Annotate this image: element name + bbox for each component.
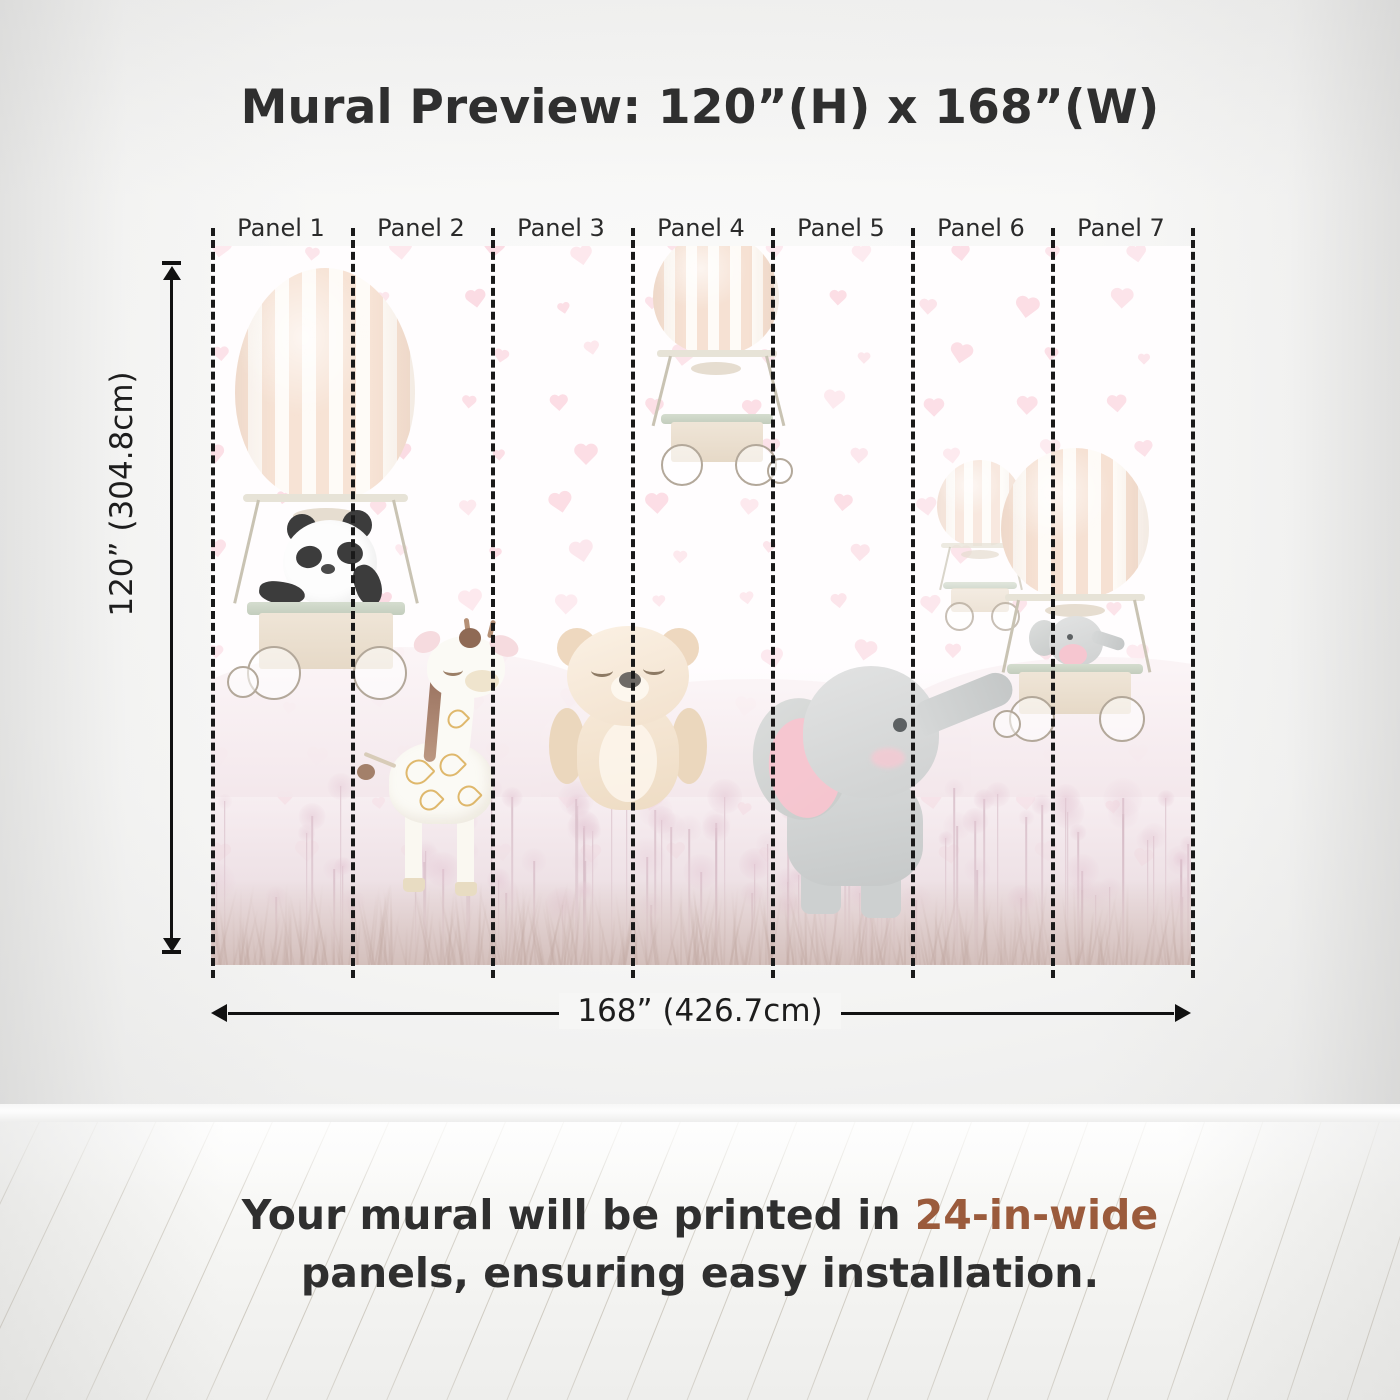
heart-icon [829, 593, 849, 611]
figure-giraffe [361, 614, 541, 914]
elephant-eye [893, 718, 907, 732]
bear-eye-right [643, 662, 665, 675]
footer-caption: Your mural will be printed in 24-in-wide… [0, 1186, 1400, 1302]
figure-baby-elephant-in-balloon [993, 448, 1173, 688]
panel-label-6: Panel 6 [911, 214, 1051, 242]
panel-label-4: Panel 4 [631, 214, 771, 242]
bear-nose [619, 672, 641, 688]
heart-icon [950, 246, 972, 264]
balloon-rope [1133, 600, 1151, 673]
heart-icon [848, 447, 868, 465]
heart-icon [849, 544, 871, 564]
heart-icon [918, 595, 943, 618]
grass-blade [677, 898, 688, 965]
grass-blade [557, 917, 559, 965]
grass-blade [356, 916, 361, 965]
elephant-blush [871, 748, 905, 768]
mural-edge-left [211, 228, 215, 978]
grass-blade [1126, 883, 1128, 965]
panel-divider-6 [1051, 228, 1055, 978]
giraffe-tuft [459, 628, 481, 648]
heart-icon [918, 299, 939, 318]
heart-icon [567, 538, 598, 567]
giraffe-tail-tuft [357, 764, 375, 780]
baseboard [0, 1104, 1400, 1122]
heart-icon [461, 395, 478, 411]
grass-blade [1130, 928, 1134, 965]
grass-band [211, 879, 1191, 965]
heart-icon [387, 246, 415, 264]
grass-blade [1112, 937, 1115, 965]
heart-icon [546, 490, 576, 518]
heart-icon [1124, 246, 1149, 266]
heart-icon [548, 394, 569, 413]
cart-wheel-small [227, 666, 259, 698]
cart-wheel-left [661, 444, 703, 486]
height-dimension-line [170, 276, 173, 948]
width-dimension-label: 168” (426.7cm) [0, 993, 1400, 1029]
mural-edge-right [1191, 228, 1195, 978]
giraffe-eye [443, 664, 463, 676]
panel-divider-2 [491, 228, 495, 978]
mural-preview-screenshot: Mural Preview: 120”(H) x 168”(W) Panel 1… [0, 0, 1400, 1400]
panel-label-7: Panel 7 [1051, 214, 1191, 242]
grass-blade [723, 889, 726, 965]
heart-icon [573, 444, 600, 468]
heart-icon [738, 590, 756, 606]
heart-icon [456, 587, 487, 615]
balloon-rope [233, 500, 260, 604]
balloon-rope [392, 500, 419, 604]
mural-artwork [211, 246, 1191, 965]
grass-blade [308, 939, 313, 965]
height-dimension-label: 120” (304.8cm) [104, 334, 140, 654]
heart-icon [582, 340, 602, 358]
heart-icon [1109, 288, 1135, 312]
grass-blade [564, 933, 566, 965]
heart-icon [738, 498, 760, 518]
heart-icon [303, 247, 321, 264]
heart-icon [464, 289, 490, 312]
balloon-burner [691, 362, 741, 375]
grass-blade [792, 932, 794, 965]
heart-icon [828, 290, 848, 308]
heart-icon [857, 352, 872, 365]
panel-divider-3 [631, 228, 635, 978]
page-title: Mural Preview: 120”(H) x 168”(W) [0, 80, 1400, 135]
balloon-bar [243, 494, 408, 502]
footer-line-1: Your mural will be printed in 24-in-wide [0, 1186, 1400, 1244]
heart-icon [568, 246, 596, 270]
balloon-envelope [1001, 448, 1149, 598]
panel-label-5: Panel 5 [771, 214, 911, 242]
grass-blade [583, 938, 585, 965]
heart-icon [832, 493, 855, 514]
height-tick-bottom [162, 950, 181, 954]
balloon-bar [1005, 594, 1145, 601]
balloon-envelope [235, 268, 415, 500]
heart-icon [643, 493, 670, 517]
grass-blade [305, 927, 308, 965]
footer-line-2: panels, ensuring easy installation. [0, 1244, 1400, 1302]
grass-blade [221, 926, 223, 965]
heart-icon [946, 341, 975, 368]
panel-label-3: Panel 3 [491, 214, 631, 242]
heart-icon [1015, 397, 1039, 419]
balloon-bar [657, 350, 777, 357]
panel-divider-5 [911, 228, 915, 978]
panel-divider-4 [771, 228, 775, 978]
balloon-envelope [653, 246, 779, 354]
height-tick-top [162, 261, 181, 265]
heart-icon [849, 246, 873, 266]
footer-text-before: Your mural will be printed in [242, 1191, 915, 1239]
panel-label-1: Panel 1 [211, 214, 351, 242]
width-dimension-text: 168” (426.7cm) [559, 993, 840, 1029]
figure-bear [549, 616, 709, 816]
heart-icon [1137, 354, 1151, 366]
bear-eye-left [591, 664, 613, 677]
heart-icon [821, 389, 847, 413]
giraffe-hoof-back [403, 878, 425, 892]
cart-wheel-right [1099, 696, 1145, 742]
heart-icon [553, 594, 579, 617]
baby-elephant-blush [1059, 644, 1087, 666]
heart-icon [1105, 395, 1128, 416]
baby-elephant-eye [1067, 634, 1073, 640]
bear-belly [599, 720, 657, 802]
heart-icon [923, 399, 946, 420]
panel-label-2: Panel 2 [351, 214, 491, 242]
grass-blade [1072, 883, 1076, 965]
figure-elephant [751, 644, 1021, 914]
heart-icon [652, 595, 667, 609]
balloon-rope [1002, 600, 1020, 673]
heart-icon [556, 302, 572, 317]
cart-wheel-small [993, 710, 1021, 738]
heart-icon [458, 500, 479, 519]
cart-wheel-left [945, 602, 974, 631]
panda-nose [321, 564, 335, 574]
giraffe-hoof-front [455, 882, 477, 896]
heart-icon [672, 551, 689, 566]
heart-icon [1012, 295, 1042, 323]
footer-accent-text: 24-in-wide [915, 1191, 1158, 1239]
panel-divider-1 [351, 228, 355, 978]
